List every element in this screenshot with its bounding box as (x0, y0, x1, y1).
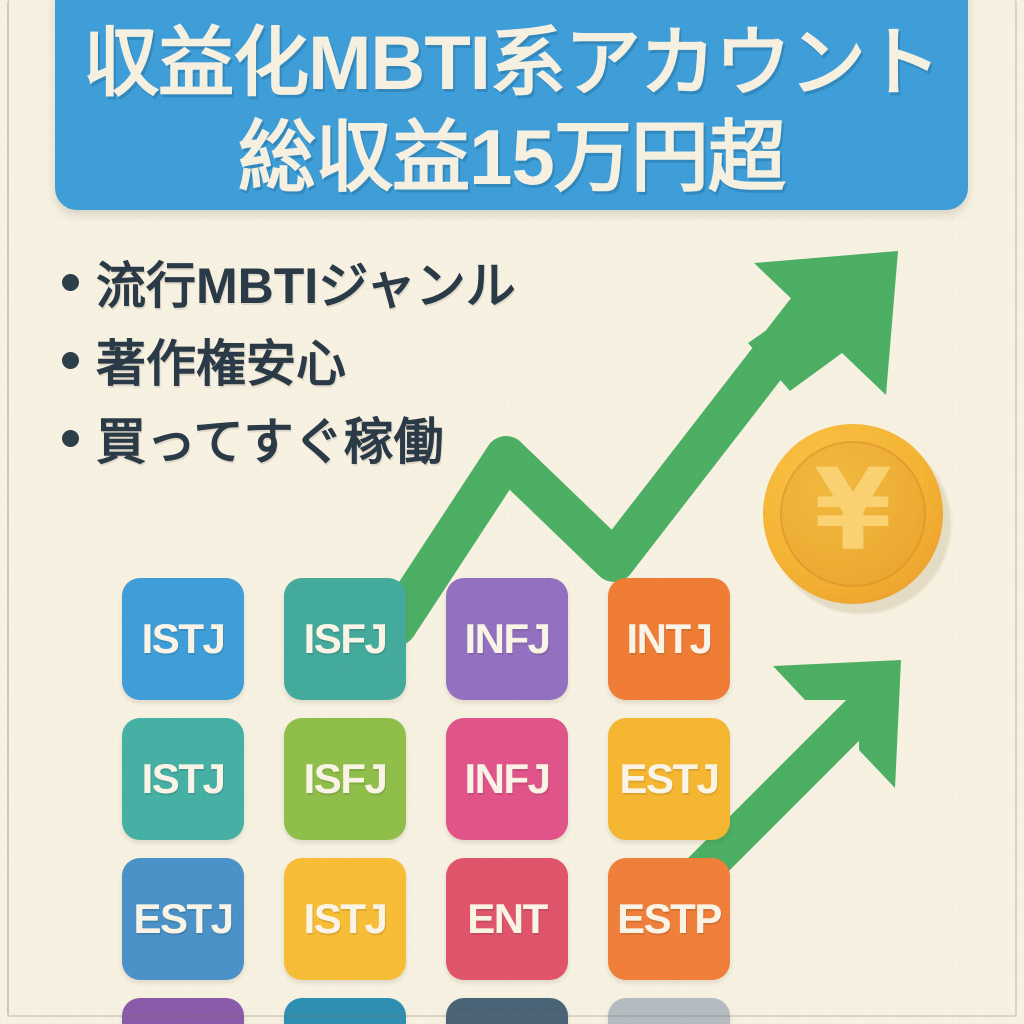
mbti-tile[interactable]: ISTJ (122, 718, 244, 840)
bullet-item: 買ってすぐ稼働 (62, 399, 516, 477)
mbti-tile[interactable]: ISFJ (284, 718, 406, 840)
mbti-tile-label: ESTJ (133, 895, 232, 943)
mbti-tile[interactable]: ESTJ (122, 858, 244, 980)
mbti-tile-grid: ISTJISFJINFJINTJISTJISFJINFJESTJESTJISTJ… (122, 578, 730, 1024)
mbti-tile[interactable]: ENT (446, 858, 568, 980)
mbti-tile[interactable]: ESTJ (608, 718, 730, 840)
bullet-label: 著作権安心 (96, 324, 346, 396)
mbti-tile-label: ENT (467, 895, 547, 943)
banner-title-line-2: 総収益15万円超 (238, 118, 785, 196)
banner-title-line-1: 収益化MBTI系アカウント (83, 26, 940, 102)
bullet-dot-icon (62, 352, 79, 369)
bullet-label: 買ってすぐ稼働 (96, 402, 444, 474)
mbti-tile-label: INTJ (626, 615, 711, 663)
header-banner: 収益化MBTI系アカウント 総収益15万円超 (55, 0, 968, 210)
mbti-tile[interactable]: ESTP (608, 858, 730, 980)
mbti-tile[interactable] (122, 998, 244, 1024)
mbti-tile[interactable]: INFJ (446, 718, 568, 840)
mbti-tile-label: ISTJ (304, 895, 387, 943)
mbti-tile-label: ESTP (617, 895, 721, 943)
mbti-tile[interactable] (446, 998, 568, 1024)
mbti-tile-label: ISTJ (142, 755, 225, 803)
mbti-tile[interactable] (284, 998, 406, 1024)
yen-symbol: ¥ (814, 455, 892, 567)
mbti-tile-label: INFJ (464, 615, 549, 663)
feature-bullet-list: 流行MBTIジャンル 著作権安心 買ってすぐ稼働 (62, 243, 516, 477)
mbti-tile[interactable] (608, 998, 730, 1024)
bullet-dot-icon (62, 274, 79, 291)
bullet-item: 流行MBTIジャンル (62, 243, 516, 321)
yen-coin-icon: ¥ (763, 424, 951, 612)
mbti-tile[interactable]: ISFJ (284, 578, 406, 700)
bullet-dot-icon (62, 430, 79, 447)
mbti-tile[interactable]: INFJ (446, 578, 568, 700)
coin-face: ¥ (780, 441, 926, 587)
mbti-tile-label: ISFJ (304, 615, 387, 663)
mbti-tile-label: ISFJ (304, 755, 387, 803)
mbti-tile-label: INFJ (464, 755, 549, 803)
bullet-label: 流行MBTIジャンル (96, 246, 516, 318)
mbti-tile[interactable]: ISTJ (284, 858, 406, 980)
mbti-tile-label: ISTJ (142, 615, 225, 663)
mbti-tile[interactable]: INTJ (608, 578, 730, 700)
bullet-item: 著作権安心 (62, 321, 516, 399)
mbti-tile-label: ESTJ (619, 755, 718, 803)
mbti-tile[interactable]: ISTJ (122, 578, 244, 700)
poster-canvas: 収益化MBTI系アカウント 総収益15万円超 流行MBTIジャンル 著作権安心 … (0, 0, 1024, 1024)
